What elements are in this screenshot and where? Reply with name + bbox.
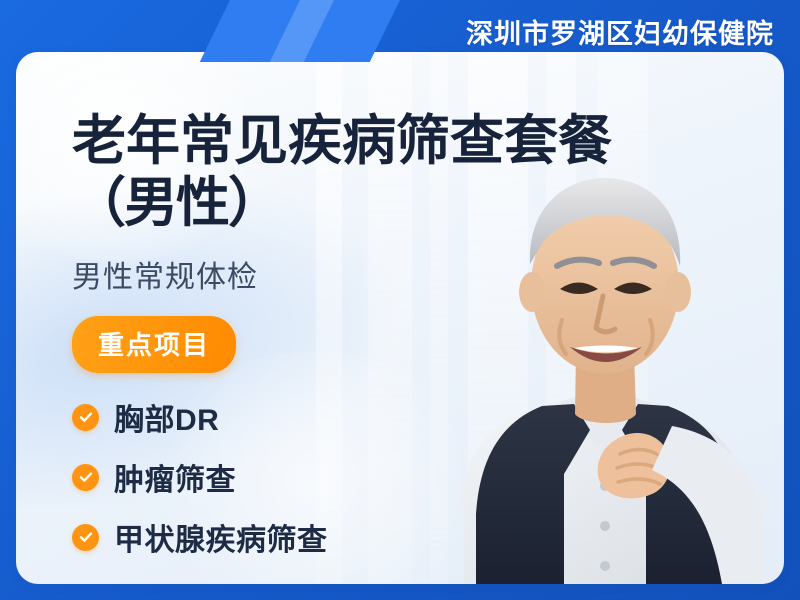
hospital-name: 深圳市罗湖区妇幼保健院 [466, 12, 774, 51]
check-icon [72, 464, 99, 491]
person-photo [424, 114, 784, 584]
list-item-label: 肿瘤筛查 [114, 455, 236, 499]
status-badge: 重点项目 [72, 316, 236, 373]
check-icon [72, 524, 99, 551]
poster-card: 老年常见疾病筛查套餐 （男性） 男性常规体检 重点项目 胸部DR [16, 52, 784, 584]
hospital-header-band: 深圳市罗湖区妇幼保健院 [240, 0, 800, 62]
promo-poster: 深圳市罗湖区妇幼保健院 老年常见疾病筛查套餐 （男性） 男性常规体检 重点项目 [0, 0, 800, 600]
list-item-label: 胸部DR [114, 395, 219, 439]
list-item-label: 甲状腺疾病筛查 [114, 515, 328, 559]
check-icon [72, 404, 99, 431]
